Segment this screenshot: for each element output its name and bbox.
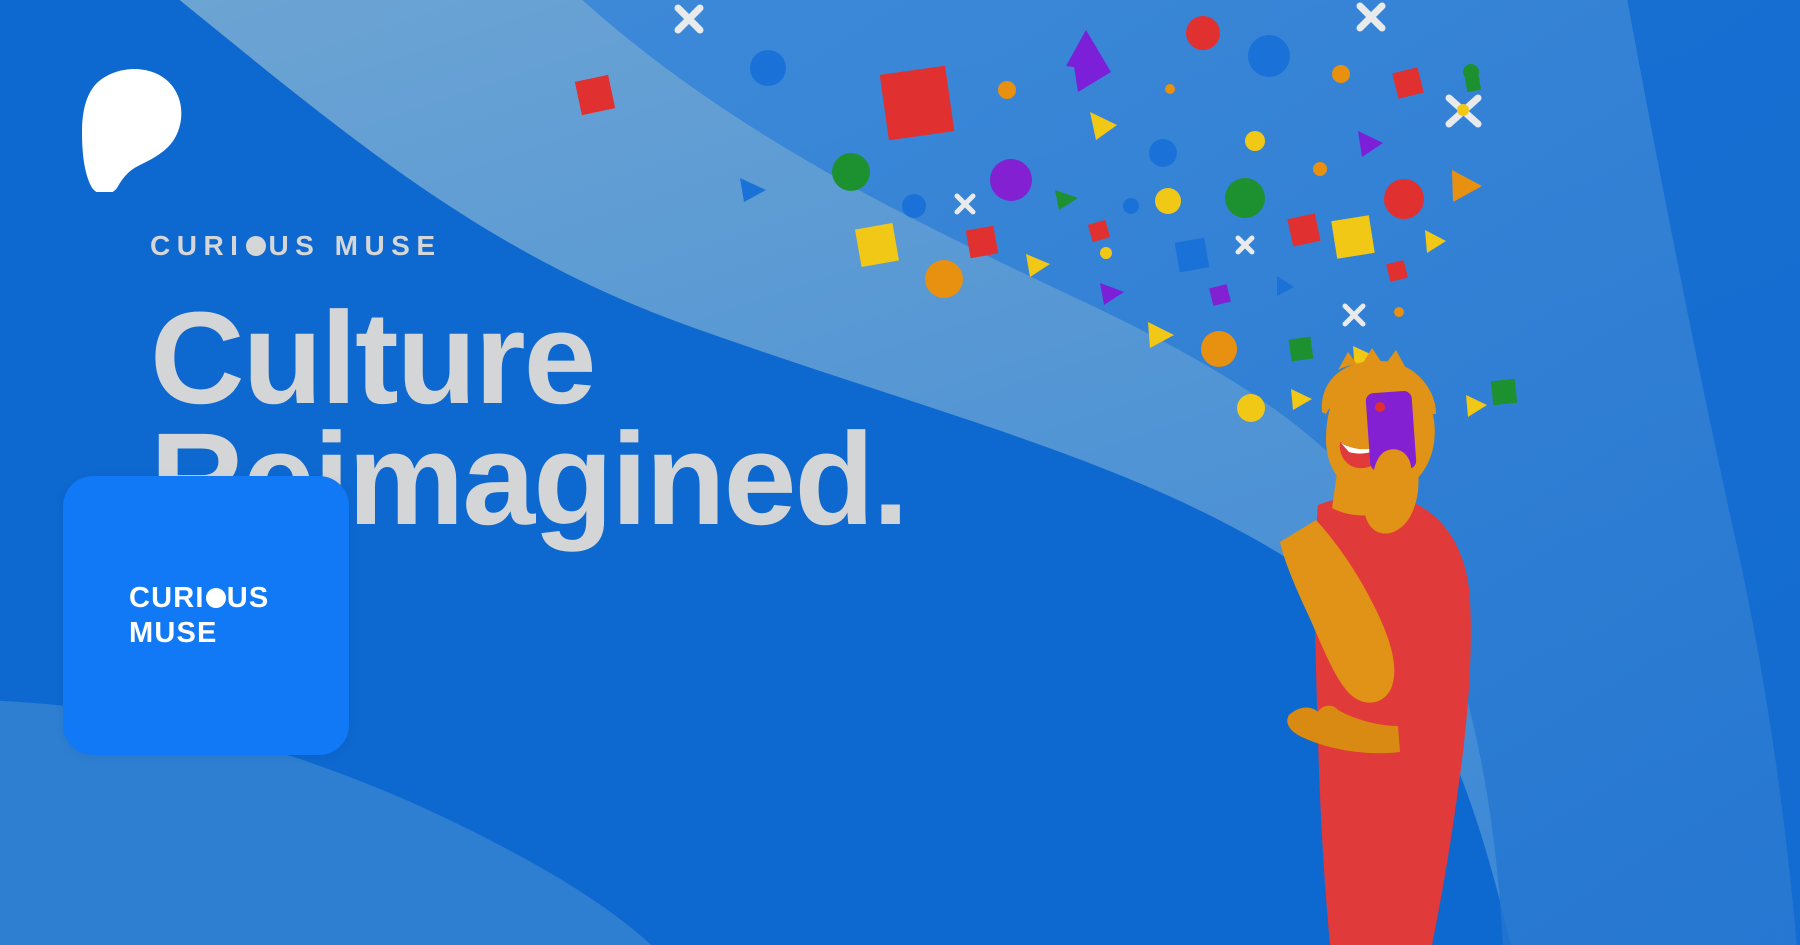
wordmark-pre: CURI — [129, 582, 205, 614]
confetti-square — [1331, 215, 1374, 258]
eyebrow-label: CURIUS MUSE CURIOUS MUSE — [150, 232, 442, 260]
eyebrow-dot-o-icon — [246, 236, 266, 256]
confetti-square — [1289, 337, 1314, 362]
curious-muse-wordmark: CURIUS MUSE CURIOUS MUSE — [129, 581, 269, 652]
confetti-circle — [1237, 394, 1265, 422]
wordmark-line-2: MUSE — [129, 616, 269, 651]
confetti-circle — [750, 50, 786, 86]
eyebrow-post: US MUSE — [268, 230, 441, 261]
patreon-logo-icon[interactable] — [62, 52, 192, 192]
confetti-circle — [1149, 139, 1177, 167]
confetti-circle — [1384, 179, 1424, 219]
hero-banner: CURIUS MUSE CURIOUS MUSE Culture Reimagi… — [0, 0, 1800, 945]
confetti-circle — [1248, 35, 1290, 77]
confetti-circle — [1313, 162, 1327, 176]
curious-muse-logo-card[interactable]: CURIUS MUSE CURIOUS MUSE — [63, 476, 349, 755]
confetti-square — [575, 75, 615, 115]
confetti-circle — [1225, 178, 1265, 218]
confetti-square — [1175, 238, 1210, 273]
confetti-circle — [1394, 307, 1404, 317]
confetti-circle — [1155, 188, 1181, 214]
confetti-square — [1491, 379, 1517, 405]
confetti-circle — [1123, 198, 1139, 214]
confetti-circle — [1186, 16, 1220, 50]
wordmark-full-text: CURIOUS MUSE — [129, 652, 130, 653]
confetti-square — [880, 66, 955, 141]
confetti-circle — [832, 153, 870, 191]
eyebrow-pre: CURI — [150, 230, 244, 261]
phone-camera-dot — [1375, 402, 1385, 412]
confetti-circle — [998, 81, 1016, 99]
confetti-circle — [1245, 131, 1265, 151]
wordmark-line-1: CURIUS — [129, 581, 269, 616]
eyebrow-full-text: CURIOUS MUSE — [442, 232, 443, 233]
confetti-circle — [1332, 65, 1350, 83]
confetti-square — [1287, 213, 1320, 246]
confetti-circle — [990, 159, 1032, 201]
confetti-circle — [902, 194, 926, 218]
confetti-circle — [1463, 64, 1479, 80]
confetti-circle — [1165, 84, 1175, 94]
confetti-circle — [1201, 331, 1237, 367]
wordmark-post: US — [227, 582, 270, 614]
patreon-logo-svg — [62, 52, 192, 192]
wordmark-dot-o-icon — [206, 588, 226, 608]
confetti-circle — [1457, 104, 1469, 116]
